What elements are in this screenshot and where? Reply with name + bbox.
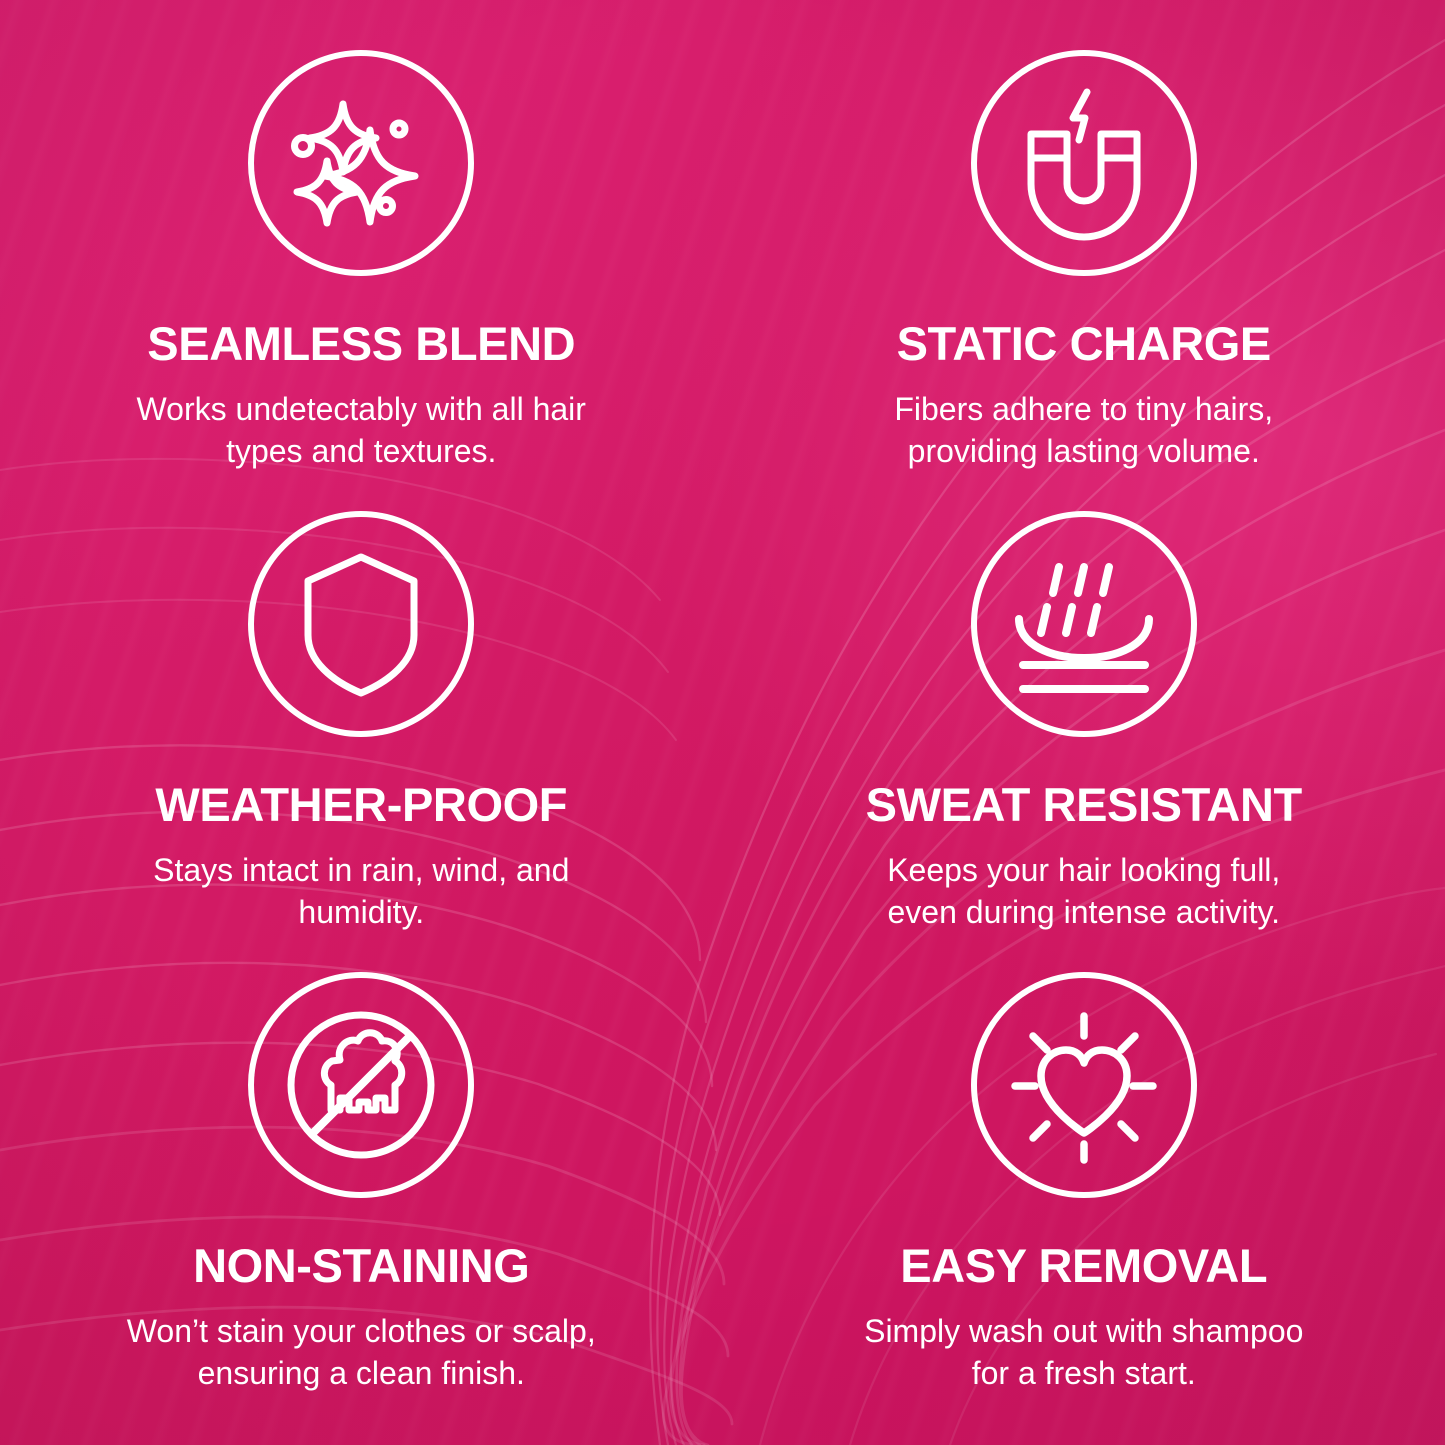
feature-description: Won’t stain your clothes or scalp, ensur… xyxy=(126,1311,596,1394)
feature-sweat-resistant: SWEAT RESISTANT Keeps your hair looking … xyxy=(723,497,1445,958)
feature-title: SWEAT RESISTANT xyxy=(866,781,1302,828)
feature-description: Works undetectably with all hair types a… xyxy=(126,389,596,472)
shining-heart-icon xyxy=(971,972,1197,1198)
feature-easy-removal: EASY REMOVAL Simply wash out with shampo… xyxy=(723,958,1445,1419)
feature-static-charge: STATIC CHARGE Fibers adhere to tiny hair… xyxy=(723,36,1445,497)
feature-seamless-blend: SEAMLESS BLEND Works undetectably with a… xyxy=(0,36,723,497)
water-repellent-icon xyxy=(971,511,1197,737)
feature-title: NON-STAINING xyxy=(193,1242,529,1289)
magnet-icon xyxy=(971,50,1197,276)
feature-description: Keeps your hair looking full, even durin… xyxy=(849,850,1319,933)
feature-grid: SEAMLESS BLEND Works undetectably with a… xyxy=(0,0,1445,1445)
feature-description: Simply wash out with shampoo for a fresh… xyxy=(849,1311,1319,1394)
no-stain-icon xyxy=(248,972,474,1198)
feature-title: STATIC CHARGE xyxy=(897,320,1271,367)
feature-title: SEAMLESS BLEND xyxy=(147,320,575,367)
feature-title: WEATHER-PROOF xyxy=(155,781,567,828)
shield-icon xyxy=(248,511,474,737)
feature-non-staining: NON-STAINING Won’t stain your clothes or… xyxy=(0,958,723,1419)
feature-weather-proof: WEATHER-PROOF Stays intact in rain, wind… xyxy=(0,497,723,958)
feature-description: Fibers adhere to tiny hairs, providing l… xyxy=(849,389,1319,472)
feature-title: EASY REMOVAL xyxy=(900,1242,1267,1289)
feature-description: Stays intact in rain, wind, and humidity… xyxy=(126,850,596,933)
sparkles-icon xyxy=(248,50,474,276)
